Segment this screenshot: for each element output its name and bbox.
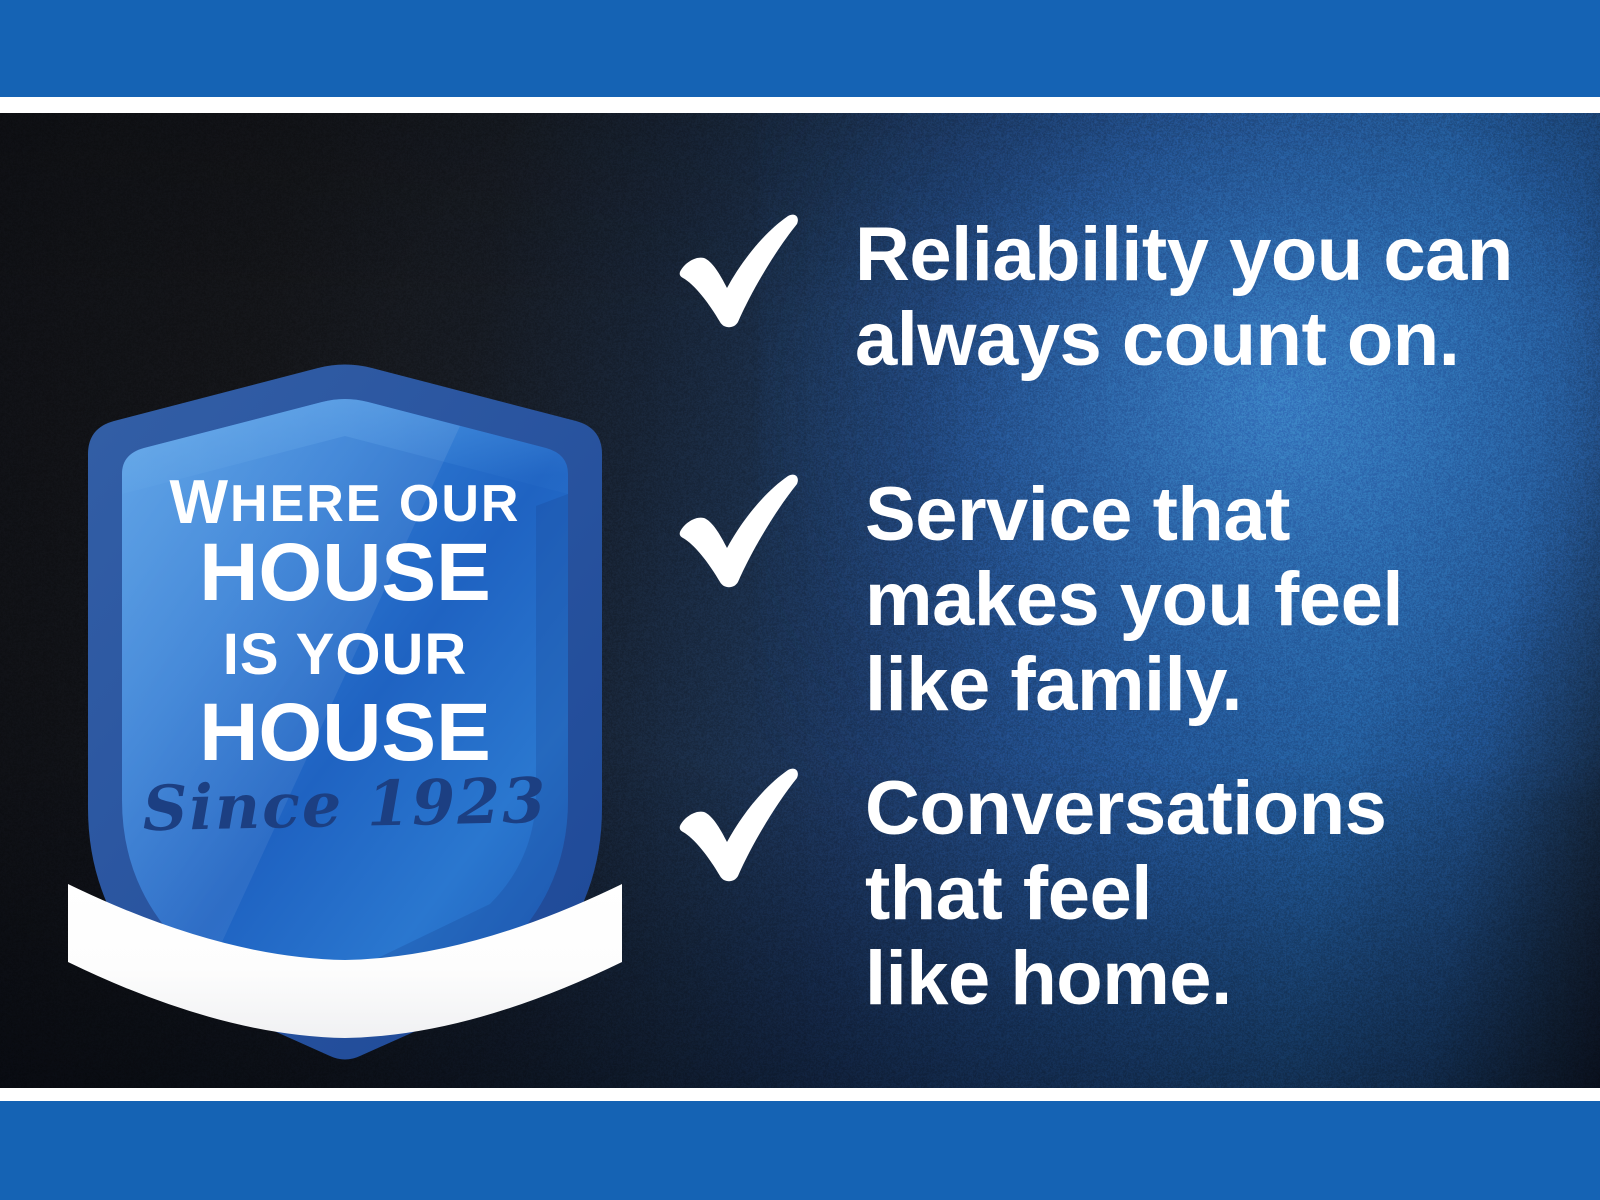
brand-badge: WHERE OUR HOUSE IS YOUR HOUSE Since 1923 xyxy=(60,268,630,1068)
checkmark-icon xyxy=(676,208,802,328)
promo-graphic: WHERE OUR HOUSE IS YOUR HOUSE Since 1923… xyxy=(0,0,1600,1200)
list-item: Conversations that feel like home. xyxy=(676,762,1536,1021)
benefits-list: Reliability you can always count on. Ser… xyxy=(676,208,1536,1021)
list-item-label: Service that makes you feel like family. xyxy=(865,468,1536,727)
top-brand-bar xyxy=(0,0,1600,97)
checkmark-icon xyxy=(676,468,802,588)
list-item: Service that makes you feel like family. xyxy=(676,468,1536,727)
bottom-brand-bar xyxy=(0,1101,1600,1200)
list-item-label: Conversations that feel like home. xyxy=(865,762,1536,1021)
checkmark-icon xyxy=(676,762,802,882)
list-item: Reliability you can always count on. xyxy=(676,208,1536,382)
artwork-panel: WHERE OUR HOUSE IS YOUR HOUSE Since 1923… xyxy=(0,113,1600,1088)
list-item-label: Reliability you can always count on. xyxy=(855,208,1536,382)
